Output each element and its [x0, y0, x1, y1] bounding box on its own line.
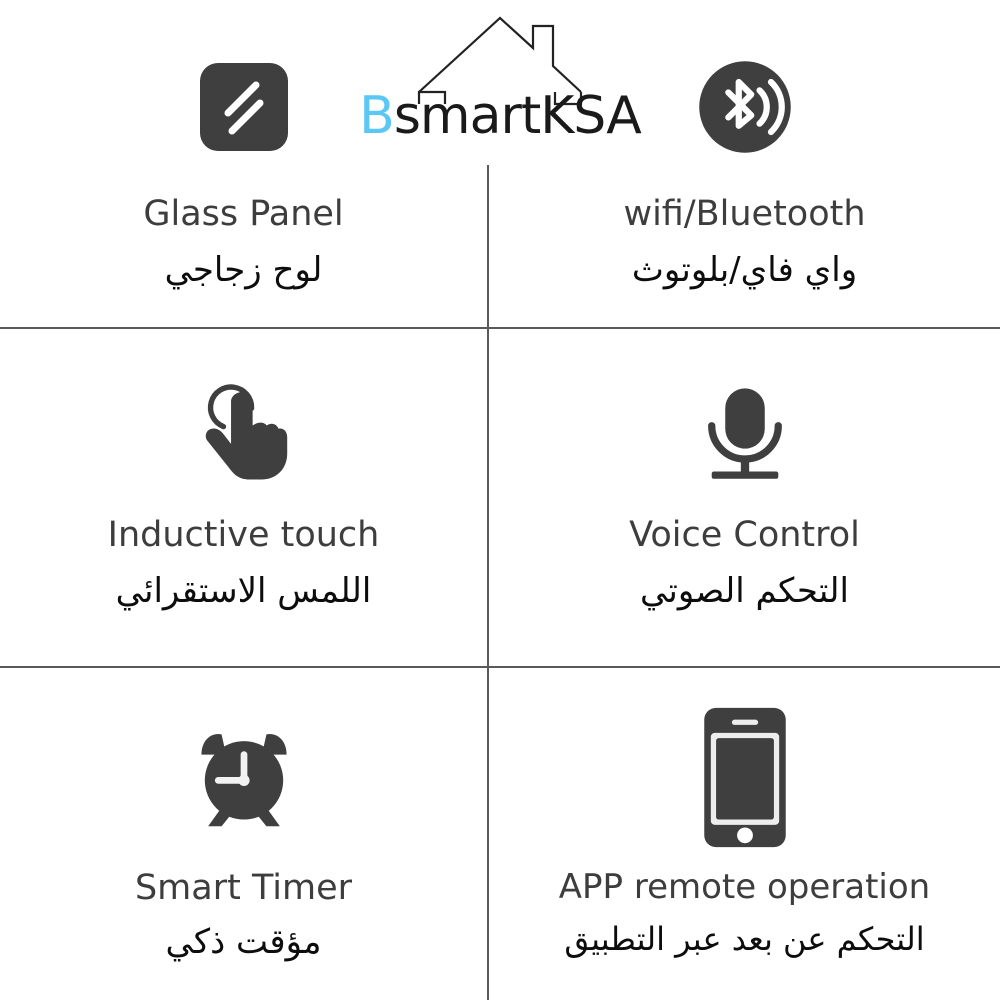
- feature-label-ar: التحكم الصوتي: [640, 569, 849, 613]
- feature-label-en: Voice Control: [629, 515, 860, 555]
- feature-label-en: APP remote operation: [559, 868, 930, 907]
- feature-grid-page: BsmartKSA Glass Panel لوح زجاجي wifi/B: [0, 0, 1000, 1000]
- feature-cell-app-remote-operation: APP remote operation التحكم عن بعد عبر ا…: [489, 668, 1000, 1000]
- feature-cell-glass-panel: Glass Panel لوح زجاجي: [0, 0, 487, 327]
- feature-label-ar: لوح زجاجي: [165, 248, 323, 292]
- feature-cell-smart-timer: Smart Timer مؤقت ذكي: [0, 668, 487, 1000]
- feature-label-en: wifi/Bluetooth: [623, 194, 865, 234]
- touch-hand-icon: [190, 371, 298, 493]
- feature-cell-wifi-bluetooth: wifi/Bluetooth واي فاي/بلوتوث: [489, 0, 1000, 327]
- feature-label-ar: واي فاي/بلوتوث: [632, 248, 857, 292]
- feature-cell-inductive-touch: Inductive touch اللمس الاستقرائي: [0, 329, 487, 666]
- alarm-clock-icon: [188, 702, 300, 852]
- feature-label-en: Glass Panel: [143, 194, 343, 234]
- wifi-bluetooth-icon: [693, 46, 797, 168]
- feature-label-ar: التحكم عن بعد عبر التطبيق: [564, 919, 924, 961]
- glass-panel-icon: [194, 46, 294, 168]
- feature-label-en: Inductive touch: [108, 515, 380, 555]
- feature-cell-voice-control: Voice Control التحكم الصوتي: [489, 329, 1000, 666]
- microphone-icon: [693, 371, 797, 493]
- smartphone-icon: [699, 702, 791, 852]
- feature-label-en: Smart Timer: [135, 868, 352, 908]
- feature-label-ar: مؤقت ذكي: [166, 920, 322, 964]
- feature-label-ar: اللمس الاستقرائي: [116, 569, 372, 613]
